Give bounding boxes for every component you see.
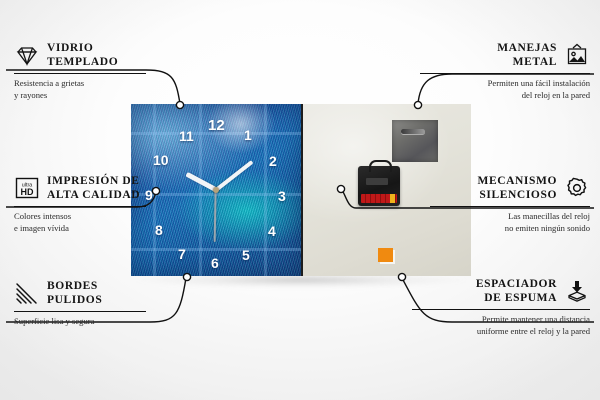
callout-bordes-pulidos: BORDESPULIDOS Superficie lisa y segura: [14, 279, 146, 328]
clock-numeral: 11: [179, 129, 194, 143]
callout-vidrio-templado: VIDRIOTEMPLADO Resistencia a grietasy ra…: [14, 41, 146, 101]
svg-text:HD: HD: [21, 187, 34, 197]
callout-impresion-alta-calidad: ultra HD IMPRESIÓN DEALTA CALIDAD Colore…: [14, 174, 146, 234]
clock-numeral: 6: [211, 256, 219, 270]
divider: [430, 206, 590, 208]
divider: [14, 206, 146, 208]
clock-numeral: 3: [278, 189, 286, 203]
callout-title: VIDRIOTEMPLADO: [47, 41, 118, 70]
clock-numeral: 8: [155, 223, 163, 237]
minute-hand: [215, 160, 254, 191]
callout-mecanismo-silencioso: MECANISMOSILENCIOSO Las manecillas del r…: [430, 174, 590, 234]
callout-title: MECANISMOSILENCIOSO: [477, 174, 557, 203]
callout-subtitle: Las manecillas del relojno emiten ningún…: [430, 211, 590, 234]
divider: [14, 73, 146, 75]
callout-title: ESPACIADORDE ESPUMA: [476, 277, 557, 306]
gear-icon: [564, 176, 590, 200]
picture-frame-icon: [564, 43, 590, 67]
callout-title: BORDESPULIDOS: [47, 279, 102, 308]
clock-face: 12 1 2 3 4 5 6 7 8 9 10 11: [131, 104, 301, 276]
callout-manejas-metal: MANEJASMETAL Permiten una fácil instalac…: [420, 41, 590, 101]
quartz-mechanism: [358, 166, 400, 206]
divider: [420, 73, 590, 75]
callout-espaciador-espuma: ESPACIADORDE ESPUMA Permite mantener una…: [412, 277, 590, 337]
clock-numeral: 12: [208, 118, 225, 133]
callout-title: MANEJASMETAL: [497, 41, 557, 70]
clock-numeral: 10: [153, 153, 169, 167]
clock-numeral: 4: [268, 224, 276, 238]
callout-subtitle: Superficie lisa y segura: [14, 316, 146, 327]
divider: [412, 309, 590, 311]
polished-edge-icon: [14, 281, 40, 305]
clock-numeral: 5: [242, 248, 250, 262]
callout-title: IMPRESIÓN DEALTA CALIDAD: [47, 174, 140, 203]
infographic-canvas: 12 1 2 3 4 5 6 7 8 9 10 11: [0, 0, 600, 400]
callout-subtitle: Resistencia a grietasy rayones: [14, 78, 146, 101]
clock-numeral: 7: [178, 247, 186, 261]
clock-numeral: 2: [269, 154, 277, 168]
product-image: 12 1 2 3 4 5 6 7 8 9 10 11: [131, 104, 469, 276]
diamond-icon: [14, 43, 40, 67]
callout-subtitle: Permiten una fácil instalacióndel reloj …: [420, 78, 590, 101]
hands-pin: [213, 187, 219, 193]
clock-numeral: 9: [145, 188, 153, 202]
second-hand: [214, 190, 217, 242]
foam-spacer-icon: [564, 279, 590, 303]
metal-hanger: [392, 120, 438, 162]
divider: [14, 311, 146, 313]
clock-numeral: 1: [244, 128, 252, 142]
callout-subtitle: Permite mantener una distanciauniforme e…: [412, 314, 590, 337]
foam-spacer: [378, 248, 393, 262]
callout-subtitle: Colores intensose imagen vívida: [14, 211, 146, 234]
ultra-hd-icon: ultra HD: [14, 176, 40, 200]
